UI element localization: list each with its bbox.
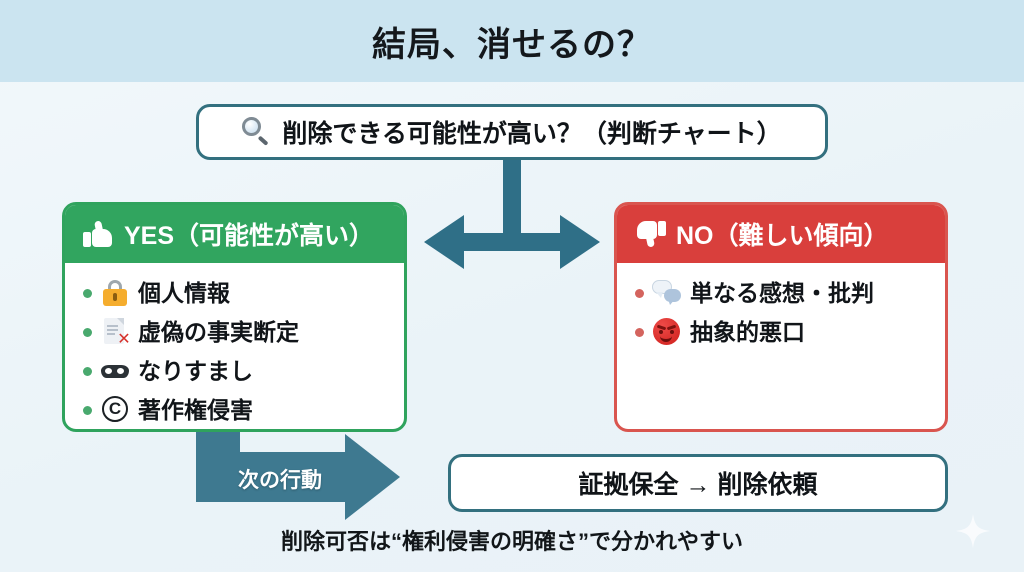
no-card-body: 単なる感想・批判 抽象的悪口	[617, 263, 945, 363]
no-card-header: NO（難しい傾向）	[617, 205, 945, 263]
split-arrow-icon	[424, 160, 600, 269]
list-item: ✕ 虚偽の事実断定	[83, 316, 396, 348]
bullet-icon	[83, 328, 92, 337]
list-item-label: 単なる感想・批判	[690, 282, 874, 305]
copyright-icon: C	[100, 396, 130, 424]
next-action-label: 次の行動	[238, 464, 322, 494]
bullet-icon	[83, 367, 92, 376]
list-item-label: 抽象的悪口	[690, 321, 805, 344]
question-box[interactable]: 削除できる可能性が高い？（判断チャート）	[196, 104, 828, 160]
header-band: 結局、消せるの？	[0, 0, 1024, 82]
thumbs-down-icon	[635, 219, 666, 249]
page-title: 結局、消せるの？	[372, 17, 652, 66]
list-item-label: なりすまし	[138, 360, 253, 383]
action-box[interactable]: 証拠保全 → 削除依頼	[448, 454, 948, 512]
thumbs-up-icon	[83, 219, 114, 249]
yes-card: YES（可能性が高い） 個人情報 ✕ 虚偽の事実断定	[62, 202, 407, 432]
angry-face-icon	[652, 318, 682, 346]
yes-card-header-label: YES（可能性が高い）	[124, 216, 374, 252]
speech-bubbles-icon	[652, 279, 682, 307]
bullet-icon	[635, 289, 644, 298]
document-x-icon: ✕	[100, 318, 130, 346]
list-item: 個人情報	[83, 277, 396, 309]
no-card-header-label: NO（難しい傾向）	[676, 216, 889, 252]
list-item: 抽象的悪口	[635, 316, 937, 348]
list-item-label: 虚偽の事実断定	[138, 321, 299, 344]
bullet-icon	[83, 289, 92, 298]
list-item: 単なる感想・批判	[635, 277, 937, 309]
magnifier-icon	[242, 117, 270, 145]
action-box-text: 証拠保全 → 削除依頼	[579, 465, 818, 501]
no-card: NO（難しい傾向） 単なる感想・批判 抽象的悪口	[614, 202, 948, 432]
lock-icon	[100, 279, 130, 307]
caption-text: 削除可否は“権利侵害の明確さ”で分かれやすい	[0, 524, 1024, 556]
mask-icon	[100, 357, 130, 385]
yes-card-body: 個人情報 ✕ 虚偽の事実断定 なりすまし	[65, 263, 404, 432]
question-text: 削除できる可能性が高い？（判断チャート）	[282, 114, 781, 150]
yes-card-header: YES（可能性が高い）	[65, 205, 404, 263]
sparkle-icon	[956, 514, 990, 548]
bullet-icon	[83, 406, 92, 415]
list-item: C 著作権侵害	[83, 394, 396, 426]
list-item-label: 個人情報	[138, 282, 230, 305]
bullet-icon	[635, 328, 644, 337]
list-item: なりすまし	[83, 355, 396, 387]
slide-canvas: 結局、消せるの？ 削除できる可能性が高い？（判断チャート） 次の行動 YES（可…	[0, 0, 1024, 572]
list-item-label: 著作権侵害	[138, 399, 253, 422]
